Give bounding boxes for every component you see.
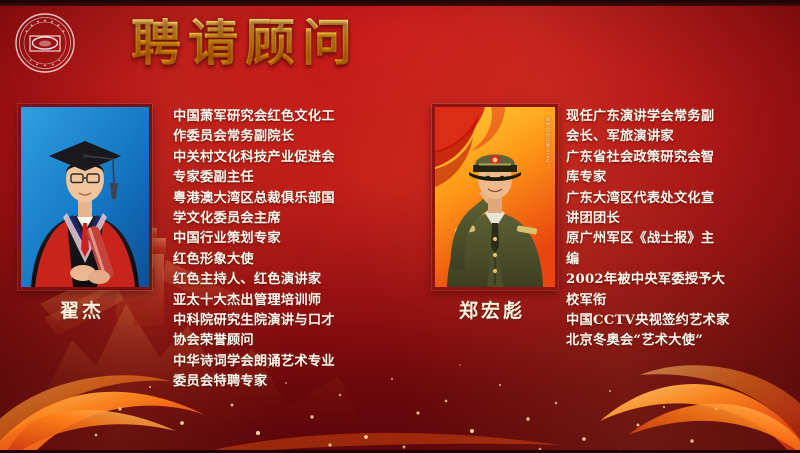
credential-line: 中国行业策划专家: [173, 229, 373, 249]
person-card-right: 敬党员的庄敬从军礼！ 郑宏彪: [432, 104, 558, 323]
portrait-photo-left: [18, 104, 152, 290]
page-title: 聘请顾问: [131, 18, 359, 68]
credential-line: 中关村文化科技产业促进会: [173, 148, 373, 168]
credential-line: 现任广东演讲学会常务副: [566, 107, 782, 127]
organization-seal-logo: [14, 12, 76, 74]
credential-line: 广东大湾区代表处文化宣: [566, 189, 782, 209]
credential-line: 会长、军旅演讲家: [566, 127, 782, 147]
credential-line: 中国萧军研究会红色文化工: [173, 107, 373, 127]
credential-line: 校军衔: [566, 291, 782, 311]
military-officer-salute-illustration: [435, 107, 555, 287]
credential-line: 编: [566, 250, 782, 270]
poster-canvas: 聘请顾问: [0, 0, 800, 453]
credential-line: 北京冬奥会“艺术大使”: [566, 331, 782, 351]
person-name-right: 郑宏彪: [432, 296, 552, 323]
credential-line: 广东省社会政策研究会智: [566, 148, 782, 168]
credential-line: 中科院研究生院演讲与口才: [173, 311, 373, 331]
portrait-photo-right: 敬党员的庄敬从军礼！: [432, 104, 558, 290]
graduate-portrait-illustration: [21, 107, 149, 287]
person-name-left: 翟杰: [18, 296, 146, 323]
credential-line: 委员会特聘专家: [173, 372, 373, 392]
photo-vertical-caption: 敬党员的庄敬从军礼！: [544, 117, 551, 169]
credential-line: 学文化委员会主席: [173, 209, 373, 229]
top-letterbox-bar: [0, 0, 800, 6]
credential-line: 作委员会常务副院长: [173, 127, 373, 147]
credential-line: 原广州军区《战士报》主: [566, 229, 782, 249]
person-card-left: 翟杰: [18, 104, 152, 323]
credential-line: 亚太十大杰出管理培训师: [173, 291, 373, 311]
credential-line: 中华诗词学会朗诵艺术专业: [173, 352, 373, 372]
credential-line: 讲团团长: [566, 209, 782, 229]
credential-line: 2002年被中央军委授予大: [566, 270, 782, 290]
credential-line: 协会荣誉顾问: [173, 331, 373, 351]
credentials-list-left: 中国萧军研究会红色文化工 作委员会常务副院长 中关村文化科技产业促进会 专家委副…: [173, 107, 373, 393]
credential-line: 红色主持人、红色演讲家: [173, 270, 373, 290]
credentials-list-right: 现任广东演讲学会常务副 会长、军旅演讲家 广东省社会政策研究会智 库专家 广东大…: [566, 107, 782, 352]
credential-line: 中国CCTV央视签约艺术家: [566, 311, 782, 331]
credential-line: 红色形象大使: [173, 250, 373, 270]
credential-line: 库专家: [566, 168, 782, 188]
credential-line: 粤港澳大湾区总裁俱乐部国: [173, 189, 373, 209]
credential-line: 专家委副主任: [173, 168, 373, 188]
